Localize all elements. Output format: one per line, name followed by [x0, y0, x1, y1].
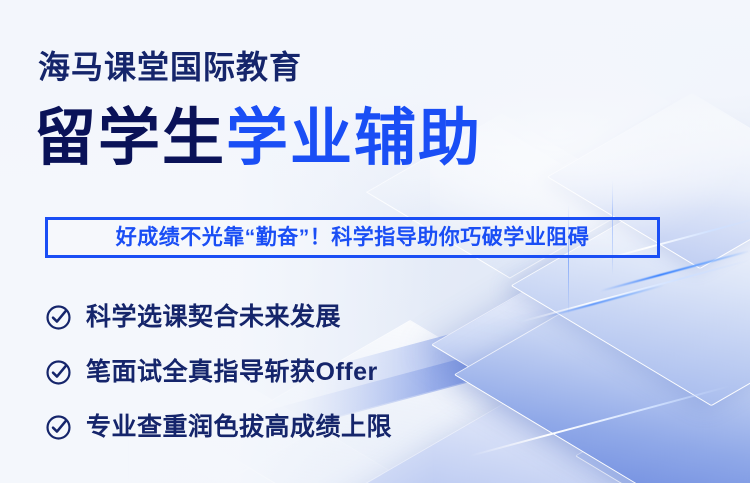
tagline-box: 好成绩不光靠“勤奋”！科学指导助你巧破学业阻碍	[45, 217, 660, 258]
list-item: 科学选课契合未来发展	[45, 290, 465, 345]
headline-blue-part: 学业辅助	[226, 104, 482, 173]
headline-dark-part: 留学生	[34, 104, 226, 173]
check-circle-icon	[45, 414, 72, 441]
page-title: 留学生学业辅助	[34, 108, 482, 170]
bg-highlight-edge-3	[470, 385, 730, 457]
bg-slab-middle	[511, 176, 750, 406]
bg-slab-wide	[431, 256, 750, 483]
feature-list: 科学选课契合未来发展 笔面试全真指导斩获Offer 专业查重润色拔高成绩上限	[45, 290, 465, 455]
bg-diamond-top-right	[449, 35, 670, 165]
bg-slab-base	[454, 244, 750, 483]
list-item-label: 笔面试全真指导斩获Offer	[86, 360, 378, 385]
check-circle-icon	[45, 304, 72, 331]
bg-slab-corner	[575, 351, 750, 483]
promo-banner: 海马课堂国际教育 留学生学业辅助 好成绩不光靠“勤奋”！科学指导助你巧破学业阻碍…	[0, 0, 750, 483]
check-circle-icon	[45, 359, 72, 386]
bg-highlight-edge-1	[520, 259, 750, 323]
list-item-label: 专业查重润色拔高成绩上限	[86, 415, 392, 440]
bg-glow-line-2	[545, 284, 665, 318]
list-item: 专业查重润色拔高成绩上限	[45, 400, 465, 455]
tagline-text: 好成绩不光靠“勤奋”！科学指导助你巧破学业阻碍	[116, 227, 590, 248]
list-item: 笔面试全真指导斩获Offer	[45, 345, 465, 400]
list-item-label: 科学选课契合未来发展	[86, 305, 341, 330]
brand-eyebrow: 海马课堂国际教育	[38, 51, 302, 83]
